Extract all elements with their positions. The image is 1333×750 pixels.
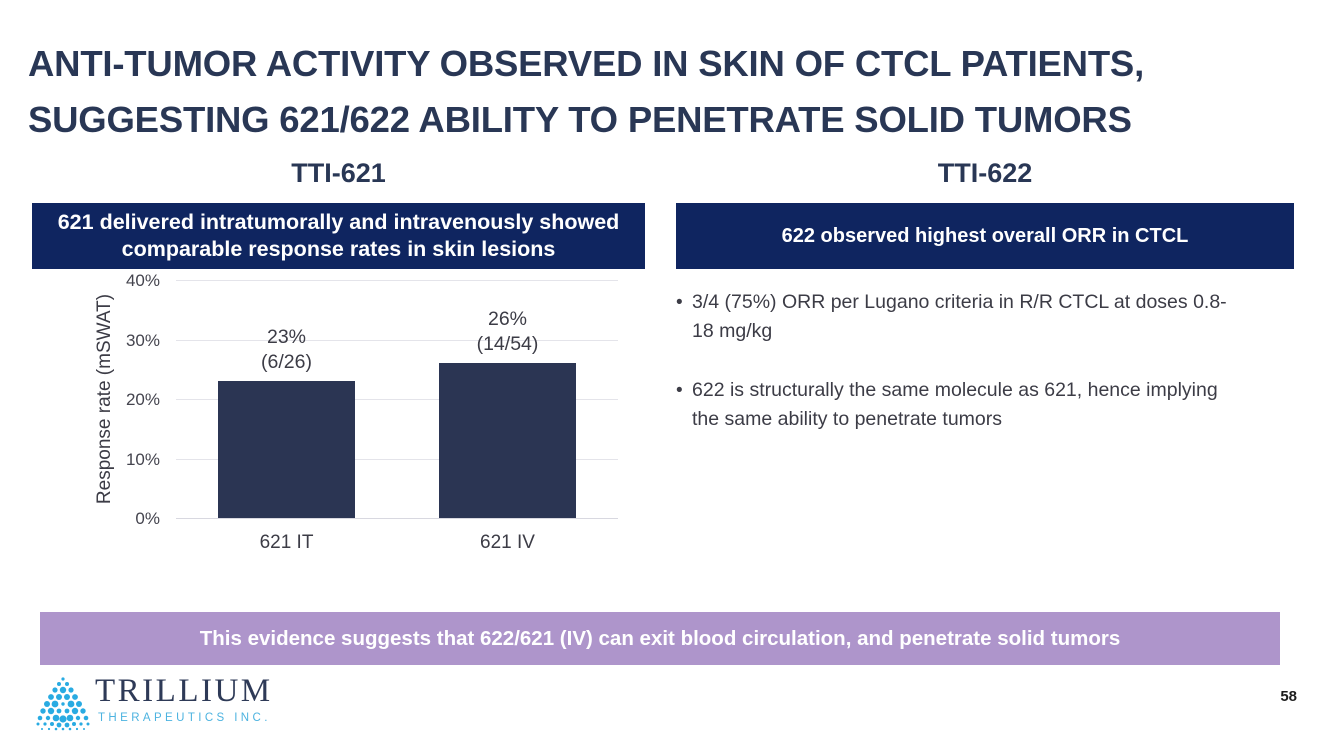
chart-y-tick-label: 40% (90, 271, 160, 291)
chart-bar-fraction-label: (14/54) (399, 332, 616, 357)
chart-bar (439, 363, 576, 518)
slide-root: ANTI-TUMOR ACTIVITY OBSERVED IN SKIN OF … (0, 0, 1333, 750)
response-rate-bar-chart: Response rate (mSWAT) 0%10%20%30%40%23%(… (88, 270, 628, 560)
chart-gridline (176, 280, 618, 281)
list-item: • 622 is structurally the same molecule … (676, 376, 1236, 434)
chart-gridline (176, 518, 618, 519)
chart-plot-area: 0%10%20%30%40%23%(6/26)621 IT26%(14/54)6… (176, 280, 618, 518)
right-column-bullet-list: • 3/4 (75%) ORR per Lugano criteria in R… (676, 288, 1236, 464)
bullet-marker-icon: • (676, 376, 692, 434)
list-item-text: 3/4 (75%) ORR per Lugano criteria in R/R… (692, 288, 1236, 346)
chart-y-tick-label: 10% (90, 450, 160, 470)
chart-bar-label-group: 23%(6/26) (178, 325, 395, 375)
chart-x-tick-label: 621 IV (399, 532, 616, 554)
company-tagline: THERAPEUTICS INC. (95, 710, 295, 726)
list-item: • 3/4 (75%) ORR per Lugano criteria in R… (676, 288, 1236, 346)
conclusion-callout-banner: This evidence suggests that 622/621 (IV)… (40, 612, 1280, 665)
page-title-line-2: SUGGESTING 621/622 ABILITY TO PENETRATE … (28, 92, 1298, 148)
chart-y-tick-label: 0% (90, 509, 160, 529)
page-title-line-1: ANTI-TUMOR ACTIVITY OBSERVED IN SKIN OF … (28, 36, 1298, 92)
bullet-marker-icon: • (676, 288, 692, 346)
chart-bar-fraction-label: (6/26) (178, 350, 395, 375)
page-title: ANTI-TUMOR ACTIVITY OBSERVED IN SKIN OF … (28, 36, 1298, 148)
list-item-text: 622 is structurally the same molecule as… (692, 376, 1236, 434)
chart-x-tick-label: 621 IT (178, 532, 395, 554)
right-column-banner: 622 observed highest overall ORR in CTCL (676, 203, 1294, 269)
chart-bar-label-group: 26%(14/54) (399, 307, 616, 357)
company-logo: TRILLIUM THERAPEUTICS INC. (33, 672, 273, 734)
company-logo-text: TRILLIUM THERAPEUTICS INC. (95, 672, 295, 726)
left-column-banner: 621 delivered intratumorally and intrave… (32, 203, 645, 269)
chart-y-tick-label: 30% (90, 331, 160, 351)
left-column-heading: TTI-621 (32, 158, 645, 189)
chart-bar (218, 381, 355, 518)
page-number: 58 (1280, 688, 1297, 705)
right-column-heading: TTI-622 (676, 158, 1294, 189)
company-name: TRILLIUM (95, 672, 295, 710)
chart-y-tick-label: 20% (90, 390, 160, 410)
chart-bar-value-label: 23% (178, 325, 395, 350)
trillium-triangle-dots-icon (33, 674, 93, 732)
chart-bar-value-label: 26% (399, 307, 616, 332)
